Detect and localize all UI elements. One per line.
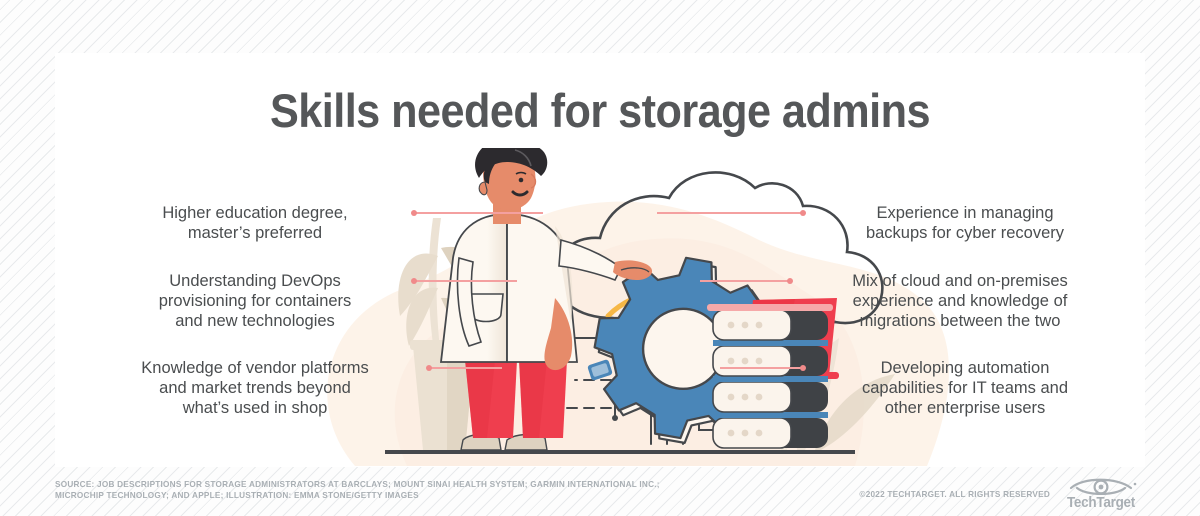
eye-icon xyxy=(1057,475,1145,495)
ground-line xyxy=(385,450,855,454)
callout-cloud-on-premises: Mix of cloud and on-premises experience … xyxy=(800,271,1120,331)
source-note: SOURCE: JOB DESCRIPTIONS FOR STORAGE ADM… xyxy=(55,479,695,501)
leader-dot xyxy=(411,278,417,284)
callout-higher-education: Higher education degree, master’s prefer… xyxy=(110,203,400,243)
leader-line-higher-education xyxy=(412,212,543,214)
callout-automation: Developing automation capabilities for I… xyxy=(815,358,1115,418)
infographic-card: Skills needed for storage admins xyxy=(55,53,1145,467)
callout-backup-experience: Experience in managing backups for cyber… xyxy=(815,203,1115,243)
leader-line-automation xyxy=(720,367,805,369)
techtarget-logo: TechTarget xyxy=(1057,475,1145,511)
leader-dot xyxy=(787,278,793,284)
leader-line-devops-provisioning xyxy=(412,280,517,282)
callout-vendor-platforms: Knowledge of vendor platforms and market… xyxy=(95,358,415,418)
server-unit xyxy=(713,382,828,412)
server-unit xyxy=(713,346,828,376)
leader-line-cloud-on-premises xyxy=(700,280,792,282)
page-background: Skills needed for storage admins xyxy=(0,0,1200,516)
copyright-note: ©2022 TECHTARGET. ALL RIGHTS RESERVED xyxy=(859,490,1050,499)
leader-dot xyxy=(411,210,417,216)
page-title: Skills needed for storage admins xyxy=(99,87,1102,134)
leader-line-backup-experience xyxy=(657,212,805,214)
leader-line-vendor-platforms xyxy=(427,367,502,369)
leader-dot xyxy=(800,365,806,371)
leader-dot xyxy=(800,210,806,216)
server-unit xyxy=(713,418,828,448)
callout-devops-provisioning: Understanding DevOps provisioning for co… xyxy=(110,271,400,331)
leader-dot xyxy=(426,365,432,371)
techtarget-wordmark: TechTarget xyxy=(1061,494,1140,511)
footer: SOURCE: JOB DESCRIPTIONS FOR STORAGE ADM… xyxy=(55,479,1145,513)
